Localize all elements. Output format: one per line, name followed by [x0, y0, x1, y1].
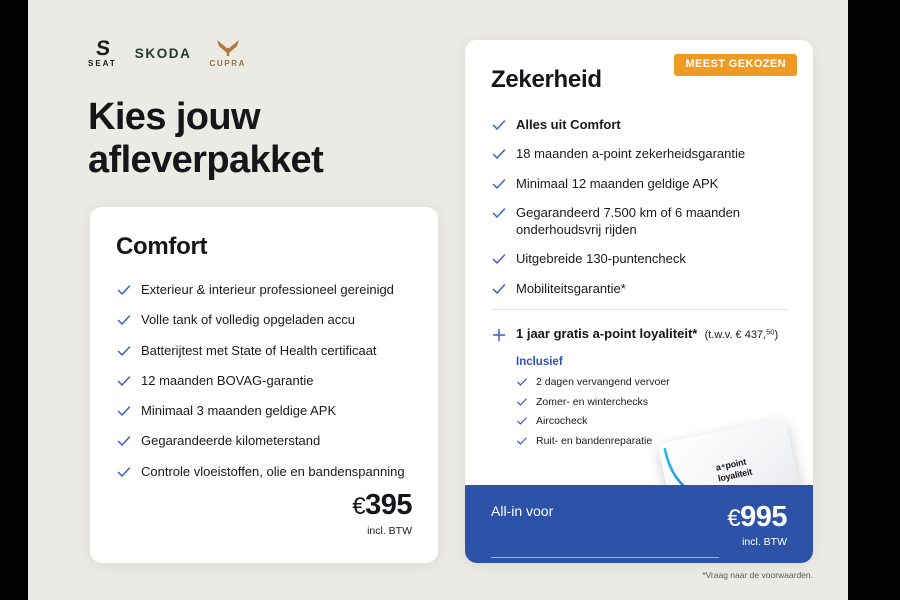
- inclusief-text: Zomer- en winterchecks: [536, 396, 648, 409]
- seat-mark-icon: S: [95, 38, 110, 59]
- check-icon: [491, 176, 507, 192]
- check-icon: [516, 415, 528, 427]
- inclusief-text: 2 dagen vervangend vervoer: [536, 376, 670, 389]
- list-item: Batterijtest met State of Health certifi…: [116, 342, 412, 359]
- check-icon: [116, 464, 132, 480]
- feature-text: Exterieur & interieur professioneel gere…: [141, 281, 412, 298]
- skoda-wordmark: SKODA: [135, 46, 192, 61]
- feature-text: Controle vloeistoffen, olie en bandenspa…: [141, 463, 412, 480]
- loyalty-title: 1 jaar gratis a-point loyaliteit*: [516, 326, 697, 341]
- feature-text: Volle tank of volledig opgeladen accu: [141, 311, 412, 328]
- price-amount: 995: [740, 501, 787, 533]
- list-item: Volle tank of volledig opgeladen accu: [116, 311, 412, 328]
- zekerheid-price-row: All-in voor €995 incl. BTW: [491, 503, 787, 548]
- feature-text: 12 maanden BOVAG-garantie: [141, 372, 412, 389]
- check-icon: [116, 403, 132, 419]
- comfort-title: Comfort: [116, 235, 412, 259]
- zekerheid-body: Zekerheid Alles uit Comfort 18 maanden a…: [465, 40, 813, 447]
- skoda-logo: SKODA: [135, 46, 192, 61]
- zekerheid-price-note: incl. BTW: [727, 536, 787, 548]
- seat-logo: S SEAT: [88, 38, 117, 68]
- currency-symbol: €: [352, 493, 365, 520]
- cupra-mark-icon: [215, 38, 241, 58]
- check-icon: [116, 282, 132, 298]
- list-item: Minimaal 12 maanden geldige APK: [491, 175, 787, 192]
- list-item: Gegarandeerd 7.500 km of 6 maanden onder…: [491, 204, 787, 239]
- inclusief-label: Inclusief: [516, 356, 787, 368]
- check-icon: [491, 251, 507, 267]
- check-icon: [516, 435, 528, 447]
- promo-canvas: S SEAT SKODA CUPRA Kies jouw afleverpakk…: [28, 0, 848, 600]
- loyalty-text: 1 jaar gratis a-point loyaliteit* (t.w.v…: [516, 326, 778, 341]
- feature-text: Gegarandeerde kilometerstand: [141, 432, 412, 449]
- cupra-wordmark: CUPRA: [210, 60, 246, 68]
- feature-text: Minimaal 12 maanden geldige APK: [516, 175, 787, 192]
- package-card-comfort[interactable]: Comfort Exterieur & interieur profession…: [90, 207, 438, 563]
- check-icon: [516, 396, 528, 408]
- zekerheid-title: Zekerheid: [491, 68, 787, 92]
- check-icon: [116, 343, 132, 359]
- list-item: 18 maanden a-point zekerheidsgarantie: [491, 145, 787, 162]
- feature-text: 18 maanden a-point zekerheidsgarantie: [516, 145, 787, 162]
- check-icon: [516, 376, 528, 388]
- zekerheid-feature-list: Alles uit Comfort 18 maanden a-point zek…: [491, 116, 787, 297]
- feature-text: Mobiliteitsgarantie*: [516, 280, 787, 297]
- zekerheid-price-label: All-in voor: [491, 503, 553, 519]
- inclusief-text: Aircocheck: [536, 415, 587, 428]
- letterbox-bar-right: [848, 0, 900, 600]
- price-amount: 395: [365, 489, 412, 521]
- list-item: 2 dagen vervangend vervoer: [516, 376, 787, 389]
- inclusief-text: Ruit- en bandenreparatie: [536, 435, 652, 448]
- check-icon: [116, 312, 132, 328]
- zekerheid-price-bar: All-in voor €995 incl. BTW: [465, 485, 813, 563]
- check-icon: [116, 433, 132, 449]
- screenshot-stage: S SEAT SKODA CUPRA Kies jouw afleverpakk…: [0, 0, 900, 600]
- check-icon: [491, 117, 507, 133]
- zekerheid-price-block: €995 incl. BTW: [727, 503, 787, 548]
- feature-text: Alles uit Comfort: [516, 116, 787, 133]
- comfort-price-block: €395 incl. BTW: [352, 491, 412, 537]
- loyalty-worth-suffix: ): [774, 329, 778, 341]
- loyalty-worth-prefix: (t.w.v. € 437,: [705, 329, 767, 341]
- loyalty-row: 1 jaar gratis a-point loyaliteit* (t.w.v…: [491, 326, 787, 343]
- comfort-feature-list: Exterieur & interieur professioneel gere…: [116, 281, 412, 480]
- check-icon: [491, 281, 507, 297]
- check-icon: [116, 373, 132, 389]
- list-item: Controle vloeistoffen, olie en bandenspa…: [116, 463, 412, 480]
- loyalty-card-dot-icon: [721, 464, 725, 468]
- letterbox-bar-left: [0, 0, 28, 600]
- check-icon: [491, 146, 507, 162]
- brand-logo-row: S SEAT SKODA CUPRA: [88, 36, 246, 70]
- list-item: Alles uit Comfort: [491, 116, 787, 133]
- feature-text: Gegarandeerd 7.500 km of 6 maanden onder…: [516, 204, 787, 239]
- footnote: *Vraag naar de voorwaarden.: [28, 570, 848, 580]
- divider: [491, 309, 787, 310]
- seat-wordmark: SEAT: [88, 60, 117, 68]
- loyalty-worth: (t.w.v. € 437,50): [705, 329, 779, 341]
- comfort-price: €395: [352, 491, 412, 520]
- loyalty-card-brand-a: a: [715, 462, 722, 473]
- list-item: Zomer- en winterchecks: [516, 396, 787, 409]
- list-item: 12 maanden BOVAG-garantie: [116, 372, 412, 389]
- list-item: Mobiliteitsgarantie*: [491, 280, 787, 297]
- zekerheid-price: €995: [727, 503, 787, 532]
- feature-text: Batterijtest met State of Health certifi…: [141, 342, 412, 359]
- currency-symbol: €: [727, 505, 740, 532]
- list-item: Uitgebreide 130-puntencheck: [491, 250, 787, 267]
- cupra-logo: CUPRA: [210, 38, 246, 68]
- feature-text: Uitgebreide 130-puntencheck: [516, 250, 787, 267]
- comfort-price-note: incl. BTW: [352, 525, 412, 537]
- list-item: Exterieur & interieur professioneel gere…: [116, 281, 412, 298]
- price-underline: [491, 557, 719, 558]
- list-item: Minimaal 3 maanden geldige APK: [116, 402, 412, 419]
- package-card-zekerheid[interactable]: MEEST GEKOZEN Zekerheid Alles uit Comfor…: [465, 40, 813, 563]
- plus-icon: [491, 327, 507, 343]
- page-title: Kies jouw afleverpakket: [88, 96, 323, 183]
- list-item: Gegarandeerde kilometerstand: [116, 432, 412, 449]
- check-icon: [491, 205, 507, 221]
- feature-text: Minimaal 3 maanden geldige APK: [141, 402, 412, 419]
